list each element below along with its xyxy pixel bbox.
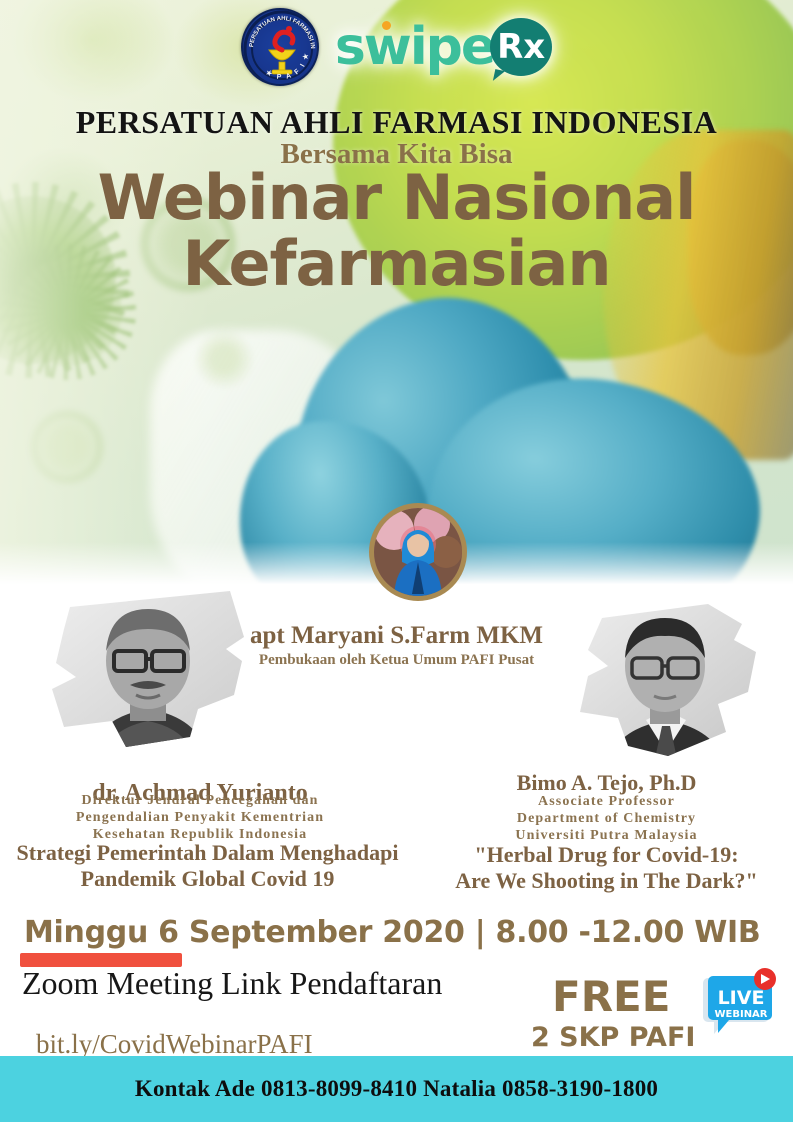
swipe-wordmark: swipe [335, 21, 494, 73]
topic-line: Strategi Pemerintah Dalam Menghadapi [0, 840, 415, 866]
rx-speech-bubble-icon: Rx [490, 18, 552, 76]
platform-line: Zoom Meeting Link Pendaftaran [22, 965, 442, 1002]
page-title: Webinar Nasional Kefarmasian [0, 165, 793, 297]
badge-webinar-text: WEBINAR [714, 1009, 767, 1020]
price-label: FREE [552, 972, 670, 1021]
topic-line: Pandemik Global Covid 19 [0, 866, 415, 892]
title-line-1: Webinar Nasional [98, 161, 696, 234]
event-datetime: Minggu 6 September 2020 | 8.00 -12.00 WI… [24, 915, 760, 950]
badge-live-text: LIVE [718, 987, 765, 1009]
affiliation-line: Direktur Jendral Pencegahan dan [0, 792, 400, 809]
swipe-i-dot-icon [382, 21, 391, 30]
rx-wordmark: Rx [497, 30, 545, 64]
live-webinar-badge-icon: LIVE WEBINAR [700, 968, 782, 1044]
opener-avatar [369, 503, 467, 601]
topic-line: Are We Shooting in The Dark?" [420, 868, 793, 894]
contact-text: Kontak Ade 0813-8099-8410 Natalia 0858-3… [135, 1076, 658, 1102]
opener-role: Pembukaan oleh Ketua Umum PAFI Pusat [0, 652, 793, 669]
affiliation-line: Associate Professor [420, 793, 793, 810]
speaker-topic-left: Strategi Pemerintah Dalam Menghadapi Pan… [0, 840, 415, 892]
swiperx-logo: swipe Rx [335, 18, 552, 76]
title-line-2: Kefarmasian [0, 231, 793, 297]
speaker-photo-achmad-yurianto [30, 585, 262, 760]
credits-label: 2 SKP PAFI [531, 1022, 695, 1053]
webinar-poster: PERSATUAN AHLI FARMASI INDONESIA ★ P A F… [0, 0, 793, 1122]
svg-text:PERSATUAN AHLI FARMASI INDONES: PERSATUAN AHLI FARMASI INDONESIA [243, 10, 315, 49]
pafi-logo-icon: PERSATUAN AHLI FARMASI INDONESIA ★ P A F… [241, 8, 319, 86]
affiliation-line: Department of Chemistry [420, 810, 793, 827]
logo-row: PERSATUAN AHLI FARMASI INDONESIA ★ P A F… [0, 8, 793, 86]
topic-line: "Herbal Drug for Covid-19: [420, 842, 793, 868]
organization-name: PERSATUAN AHLI FARMASI INDONESIA [0, 104, 793, 141]
speaker-affiliation-right: Associate Professor Department of Chemis… [420, 793, 793, 844]
contact-bar: Kontak Ade 0813-8099-8410 Natalia 0858-3… [0, 1056, 793, 1122]
speaker-affiliation-left: Direktur Jendral Pencegahan dan Pengenda… [0, 792, 400, 843]
speaker-topic-right: "Herbal Drug for Covid-19: Are We Shooti… [420, 842, 793, 894]
affiliation-line: Pengendalian Penyakit Kementrian [0, 809, 400, 826]
opener-name: apt Maryani S.Farm MKM [0, 622, 793, 650]
